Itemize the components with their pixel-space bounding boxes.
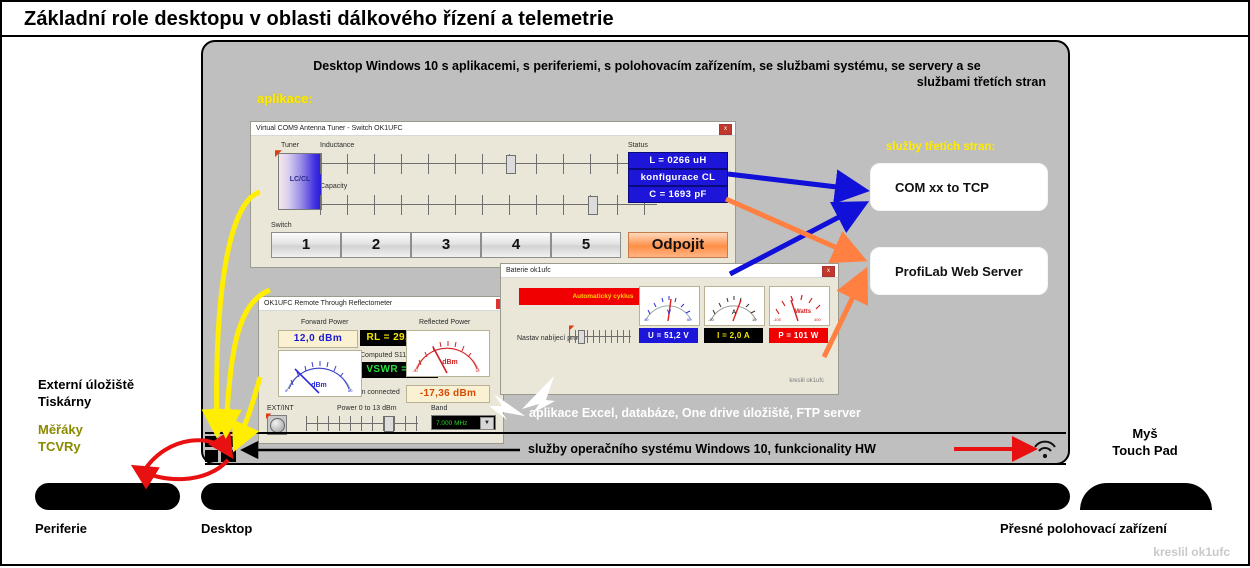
gauge-forward-power: dBm 0 80 — [278, 350, 362, 397]
label-band: Band — [431, 405, 447, 412]
svg-text:400: 400 — [814, 317, 821, 322]
label-switch: Switch — [271, 222, 292, 229]
value-voltage: U = 51,2 V — [639, 328, 698, 343]
slider-track — [320, 163, 657, 164]
svg-text:-30: -30 — [412, 368, 419, 373]
label-applications: aplikace: — [257, 91, 313, 106]
svg-text:10: 10 — [752, 317, 757, 322]
switch-button-4[interactable]: 4 — [481, 232, 551, 258]
battery-window-signature: kreslil ok1ufc — [789, 378, 824, 384]
label-ext-int: EXT/INT — [267, 405, 294, 412]
service-box-profilab[interactable]: ProfiLab Web Server — [870, 247, 1048, 295]
svg-text:dBm: dBm — [442, 359, 458, 366]
slider-ticks — [320, 195, 657, 215]
label-meters: Měřáky — [38, 421, 83, 438]
window-title-text: Baterie ok1ufc — [506, 267, 551, 274]
svg-text:-10: -10 — [708, 317, 715, 322]
panel-bottom-divider — [205, 463, 1066, 465]
caption-desktop: Desktop — [201, 521, 252, 536]
label-tuner: Tuner — [281, 142, 299, 149]
lc-cl-badge-label: LC/CL — [279, 176, 321, 183]
service-label: ProfiLab Web Server — [895, 264, 1023, 279]
svg-text:40: 40 — [644, 317, 649, 322]
label-external-storage: Externí úložiště — [38, 376, 134, 393]
label-third-party-services: služby třetích stran: — [886, 141, 995, 153]
gauge-current: A -10 10 — [704, 286, 765, 326]
svg-text:60: 60 — [687, 317, 692, 322]
slider-track — [320, 204, 657, 205]
knob-marker-icon: ◤ — [266, 412, 271, 420]
gauge-voltage: V 40 60 — [639, 286, 700, 326]
window-reflectometer[interactable]: OK1UFC Remote Through Reflectometer Forw… — [258, 296, 504, 444]
status-inductance: L = 0266 uH — [628, 152, 728, 169]
switch-button-5[interactable]: 5 — [551, 232, 621, 258]
panel-heading: Desktop Windows 10 s aplikacemi, s perif… — [242, 58, 1052, 90]
label-reflected-power: Reflected Power — [419, 319, 470, 326]
window-title-text: Virtual COM9 Antenna Tuner - Switch OK1U… — [256, 125, 403, 132]
svg-text:Watts: Watts — [795, 309, 812, 315]
label-inductance: Inductance — [320, 142, 354, 149]
window-titlebar: Virtual COM9 Antenna Tuner - Switch OK1U… — [251, 122, 735, 136]
panel-heading-line2: službami třetích stran — [242, 74, 1052, 90]
service-box-com-to-tcp[interactable]: COM xx to TCP — [870, 163, 1048, 211]
apps-layer-label: aplikace Excel, databáze, One drive úlož… — [529, 406, 861, 420]
author-signature: kreslil ok1ufc — [1153, 545, 1230, 559]
slider-track — [306, 423, 418, 424]
value-forward-power: 12,0 dBm — [278, 330, 358, 348]
window-title-text: OK1UFC Remote Through Reflectometer — [264, 300, 392, 307]
service-label: COM xx to TCP — [895, 180, 989, 195]
label-forward-power: Forward Power — [301, 319, 348, 326]
chevron-down-icon[interactable]: ▼ — [480, 417, 494, 430]
svg-text:80: 80 — [348, 388, 353, 393]
band-select[interactable]: 7.000 MHz ▼ — [431, 415, 496, 430]
window-titlebar: Baterie ok1ufc x — [501, 264, 838, 278]
value-current: I = 2,0 A — [704, 328, 763, 343]
pointing-device-bar — [1080, 483, 1212, 510]
os-layer-label: služby operačního systému Windows 10, fu… — [528, 442, 876, 456]
lc-cl-indicator: LC/CL — [278, 153, 322, 210]
capacity-slider[interactable] — [320, 192, 657, 218]
page-title: Základní role desktopu v oblasti dálkové… — [24, 8, 614, 31]
disconnect-button[interactable]: Odpojit — [628, 232, 728, 258]
svg-text:10: 10 — [475, 368, 480, 373]
label-status: Status — [628, 142, 648, 149]
windows-logo-icon[interactable] — [205, 436, 236, 462]
label-computed-s11: Computed S11 — [360, 352, 406, 359]
caption-pointing-device: Přesné polohovací zařízení — [1000, 521, 1167, 536]
gauge-reflected-power: dBm -30 10 — [406, 330, 490, 377]
label-printers: Tiskárny — [38, 393, 134, 410]
title-divider — [2, 35, 1248, 37]
label-touchpad: Touch Pad — [1112, 442, 1177, 459]
caption-peripherals: Periferie — [35, 521, 87, 536]
panel-heading-line1: Desktop Windows 10 s aplikacemi, s perif… — [313, 59, 981, 73]
label-pointing-devices: Myš Touch Pad — [1112, 425, 1177, 459]
close-icon[interactable]: x — [719, 124, 732, 135]
svg-text:V: V — [667, 310, 671, 316]
charging-current-slider[interactable]: ◤ — [569, 328, 631, 346]
peripherals-bar — [35, 483, 180, 510]
slider-knob[interactable] — [384, 416, 394, 432]
slider-knob[interactable] — [506, 155, 516, 174]
gauge-power: Watts -100 400 — [769, 286, 830, 326]
close-icon[interactable]: x — [822, 266, 835, 277]
window-battery[interactable]: Baterie ok1ufc x Automatický cyklus Nast… — [500, 263, 839, 395]
svg-text:-100: -100 — [773, 317, 782, 322]
label-measuring-devices: Měřáky TCVRy — [38, 421, 83, 455]
switch-button-2[interactable]: 2 — [341, 232, 411, 258]
slider-ticks — [320, 154, 657, 174]
value-power: P = 101 W — [769, 328, 828, 343]
label-external-devices: Externí úložiště Tiskárny — [38, 376, 134, 410]
knob-face — [270, 418, 285, 433]
label-tcvr: TCVRy — [38, 438, 83, 455]
power-slider[interactable] — [306, 414, 418, 434]
diagram-root: Základní role desktopu v oblasti dálkové… — [0, 0, 1250, 566]
status-capacity: C = 1693 pF — [628, 186, 728, 203]
value-reflected-power: -17,36 dBm — [406, 385, 490, 403]
inductance-slider[interactable] — [320, 151, 657, 177]
label-mouse: Myš — [1112, 425, 1177, 442]
svg-text:dBm: dBm — [311, 382, 327, 389]
switch-button-1[interactable]: 1 — [271, 232, 341, 258]
status-configuration: konfigurace CL — [628, 169, 728, 186]
switch-button-3[interactable]: 3 — [411, 232, 481, 258]
os-layer-divider — [205, 432, 1066, 434]
desktop-bar — [201, 483, 1070, 510]
svg-text:A: A — [732, 310, 737, 316]
label-power-range: Power 0 to 13 dBm — [337, 405, 397, 412]
window-titlebar: OK1UFC Remote Through Reflectometer — [259, 297, 503, 311]
slider-knob[interactable] — [588, 196, 598, 215]
window-antenna-tuner[interactable]: Virtual COM9 Antenna Tuner - Switch OK1U… — [250, 121, 736, 268]
label-capacity: Capacity — [320, 183, 347, 190]
band-select-value: 7.000 MHz — [436, 420, 467, 427]
slider-knob[interactable] — [578, 330, 585, 344]
